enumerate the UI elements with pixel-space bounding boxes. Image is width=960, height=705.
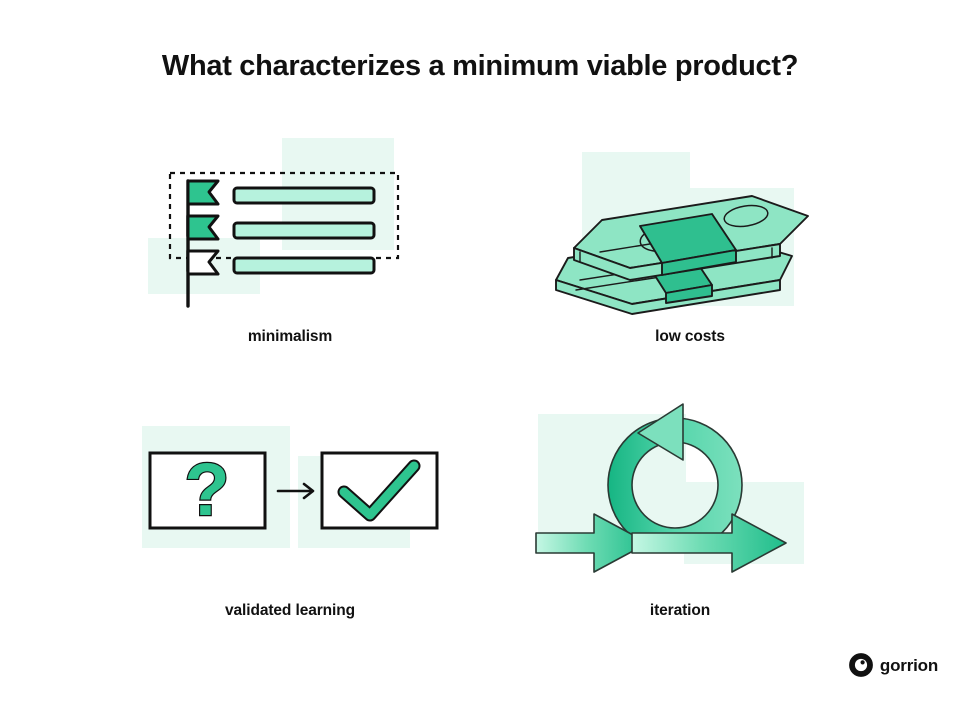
item-label-validated-learning: validated learning (130, 602, 450, 620)
item-label-minimalism: minimalism (130, 328, 450, 346)
page-title: What characterizes a minimum viable prod… (0, 50, 960, 83)
item-iteration: iteration (520, 400, 840, 640)
item-low-costs: low costs (540, 130, 840, 360)
item-validated-learning: ? validated learning (130, 408, 450, 638)
item-label-iteration: iteration (520, 602, 840, 620)
banknote-stack-icon (540, 130, 840, 320)
flag-checklist-icon (130, 130, 450, 320)
gorrion-mark-icon (849, 653, 873, 677)
slide-canvas: What characterizes a minimum viable prod… (0, 0, 960, 705)
brand-logo: gorrion (849, 653, 938, 677)
item-label-low-costs: low costs (540, 328, 840, 346)
question-mark-glyph: ? (184, 448, 229, 531)
question-to-check-icon: ? (130, 408, 450, 593)
item-minimalism: minimalism (130, 130, 450, 360)
agile-loop-icon (520, 400, 840, 595)
brand-name: gorrion (880, 657, 938, 674)
